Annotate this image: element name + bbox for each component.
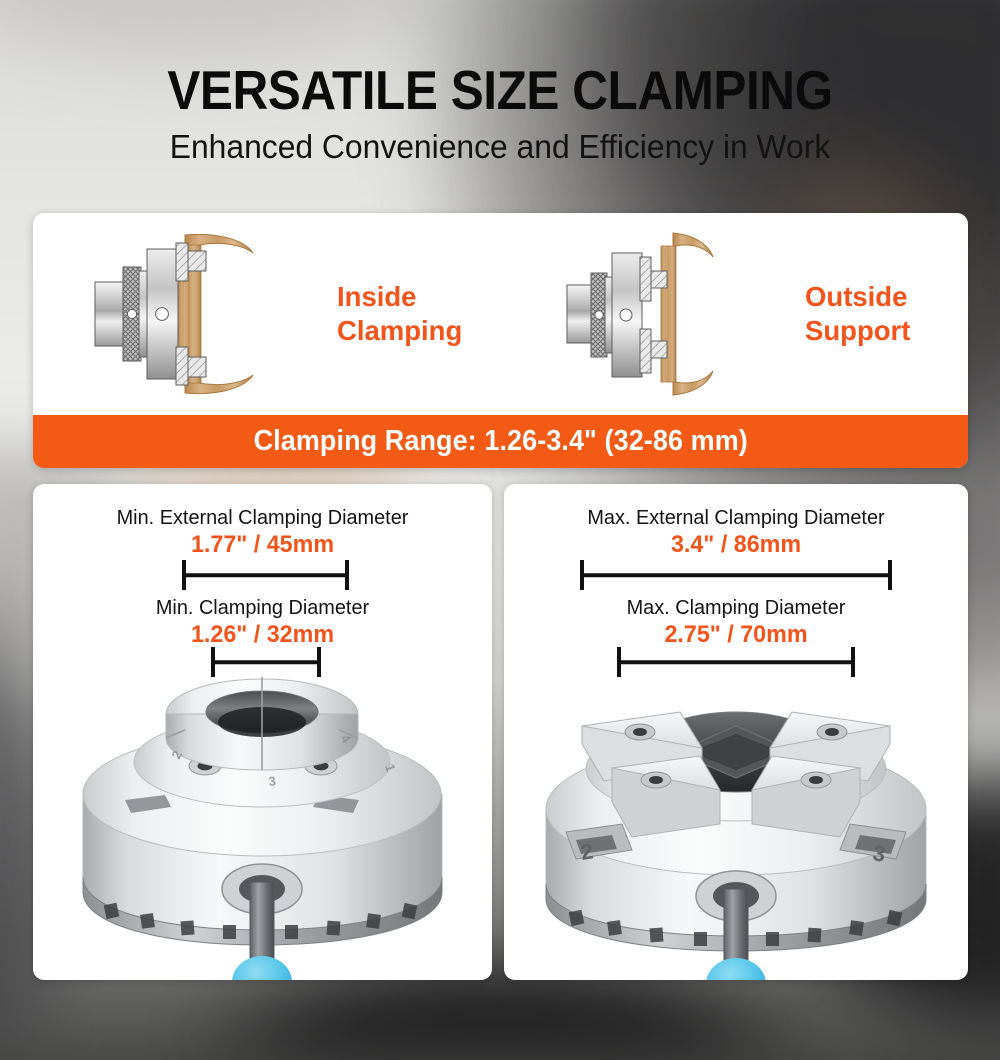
outside-support-illustration (553, 219, 783, 409)
max-external-caption: Max. External Clamping Diameter (511, 506, 961, 530)
min-external-caption: Min. External Clamping Diameter (40, 506, 485, 530)
diagram-outside-support: Outside Support (553, 213, 953, 415)
outside-support-label-line2: Support (805, 314, 910, 348)
hex-key-handle (232, 956, 292, 980)
outside-support-label-line1: Outside (805, 280, 910, 314)
min-clamping-caption: Min. Clamping Diameter (40, 596, 485, 620)
chuck-photo-max: 2 3 (504, 634, 968, 980)
jaw-front-left (612, 756, 720, 837)
hex-key-handle (706, 958, 766, 980)
outside-support-label: Outside Support (805, 280, 910, 347)
clamping-range-banner: Clamping Range: 1.26-3.4" (32-86 mm) (33, 415, 968, 468)
wood-bowl-outside (661, 233, 713, 395)
min-external-dimension-line (182, 560, 349, 590)
max-clamping-caption: Max. Clamping Diameter (511, 596, 961, 620)
jaw-front-right (752, 756, 860, 837)
clamping-range-text: Clamping Range: 1.26-3.4" (32-86 mm) (253, 425, 747, 458)
clamping-modes-panel: Inside Clamping (33, 213, 968, 468)
min-clamping-panel: Min. External Clamping Diameter 1.77" / … (33, 484, 492, 980)
max-external-value: 3.4" / 86mm (511, 531, 961, 559)
max-external-dimension-line (580, 560, 892, 590)
header: VERSATILE SIZE CLAMPING Enhanced Conveni… (0, 62, 1000, 167)
inside-clamping-label: Inside Clamping (337, 280, 462, 347)
diagram-inside-clamping: Inside Clamping (93, 213, 513, 415)
max-clamping-panel: Max. External Clamping Diameter 3.4" / 8… (504, 484, 968, 980)
clamping-mode-diagrams: Inside Clamping (33, 213, 968, 415)
min-external-value: 1.77" / 45mm (40, 531, 485, 559)
page-subtitle: Enhanced Convenience and Efficiency in W… (25, 129, 975, 167)
inside-clamping-label-line2: Clamping (337, 314, 462, 348)
inside-clamping-label-line1: Inside (337, 280, 462, 314)
chuck-photo-min: 2 4 3 1 (33, 634, 492, 980)
inside-clamping-illustration (93, 219, 323, 409)
page-title: VERSATILE SIZE CLAMPING (50, 62, 950, 118)
